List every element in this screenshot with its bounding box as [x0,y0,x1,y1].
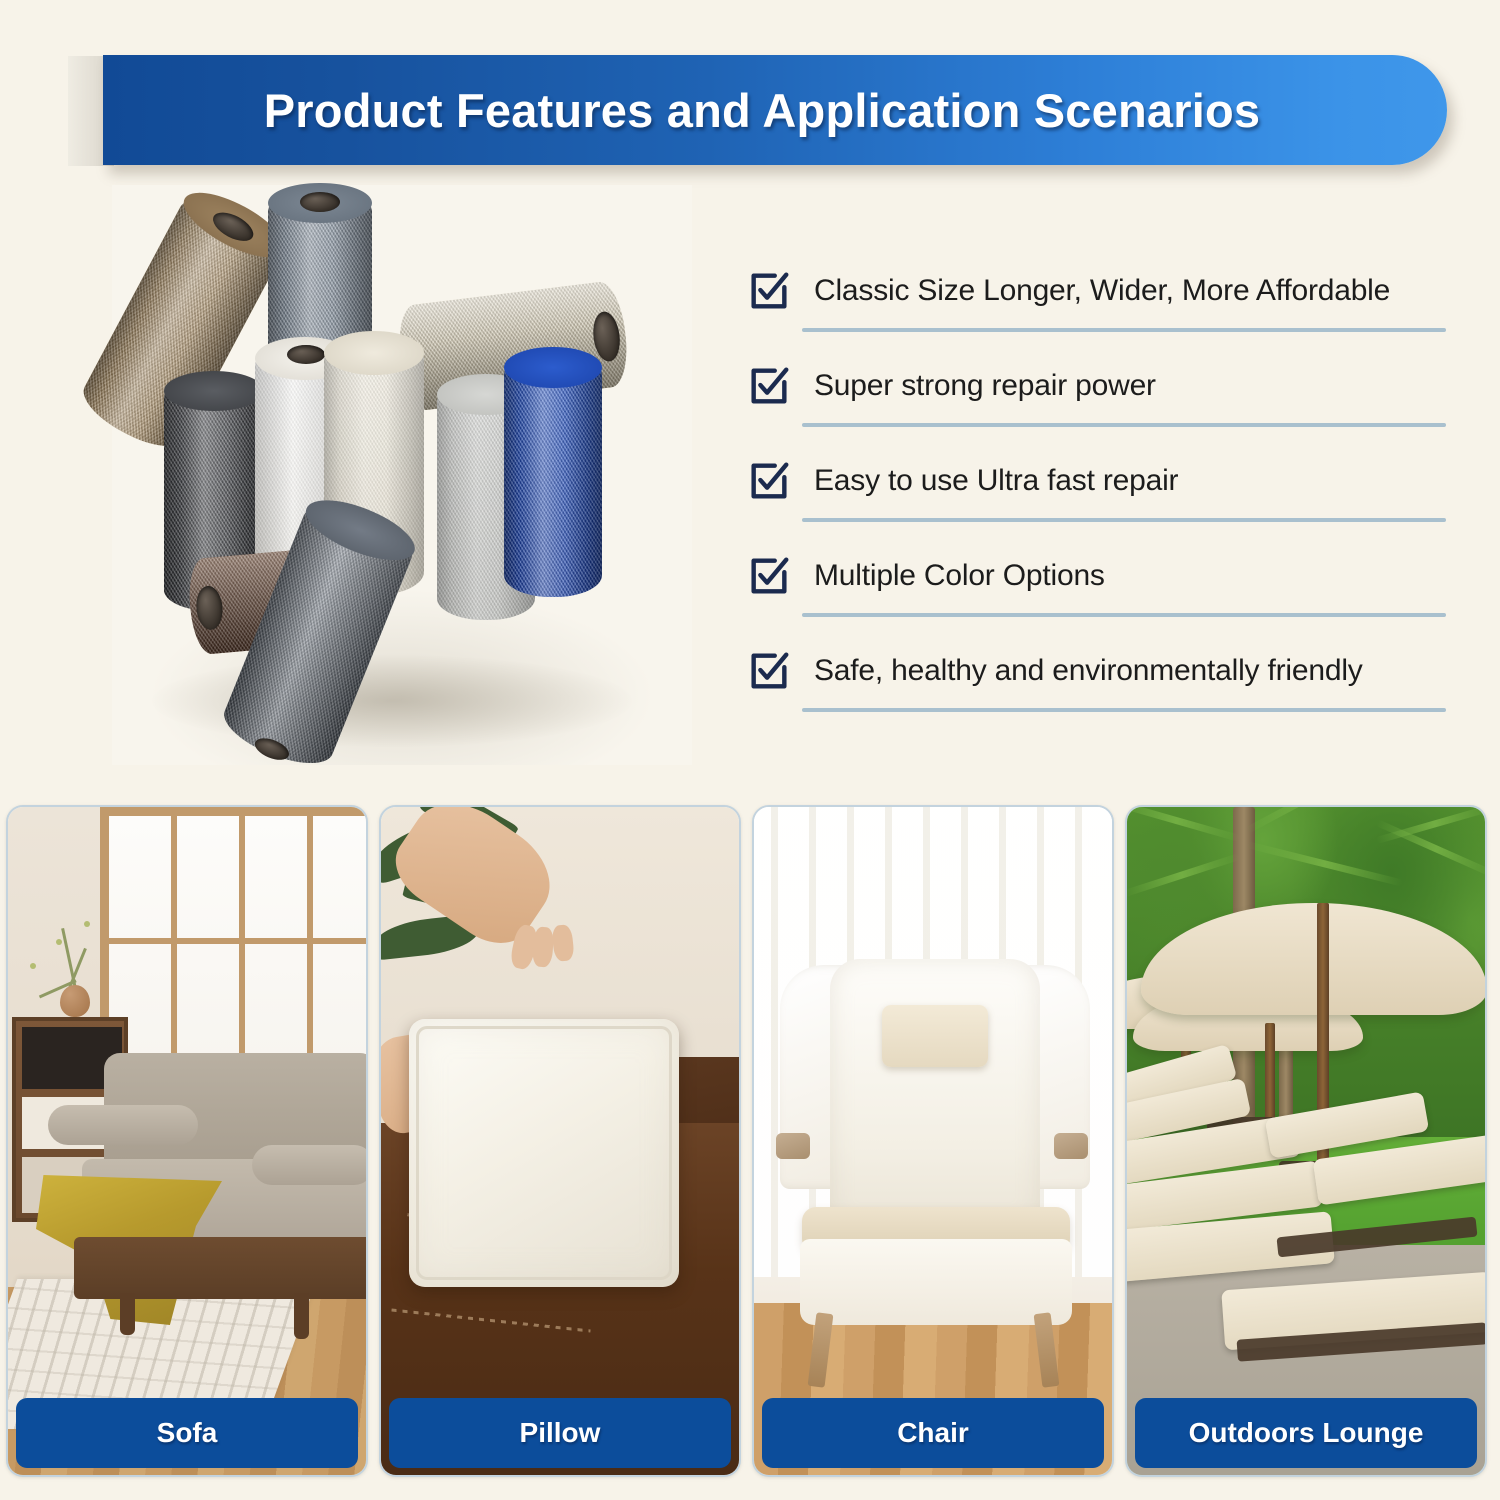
scenario-card-sofa[interactable]: Sofa [6,805,368,1477]
chair-headrest-pillow [882,1005,988,1067]
scenario-card-chair[interactable]: Chair [752,805,1114,1477]
feature-divider [802,328,1446,332]
feature-divider [802,613,1446,617]
feature-item: Safe, healthy and environmentally friend… [746,642,1452,737]
feature-label: Super strong repair power [814,369,1156,403]
scenario-label: Chair [897,1417,969,1449]
chair-arm-cap-right [1054,1133,1088,1159]
feature-label: Classic Size Longer, Wider, More Afforda… [814,274,1390,308]
scenario-label: Outdoors Lounge [1189,1417,1424,1449]
scenario-card-pillow[interactable]: Pillow [379,805,741,1477]
sofa-wood-base [74,1237,366,1299]
tape-roll-royal-blue [504,353,602,597]
feature-divider [802,708,1446,712]
feature-list: Classic Size Longer, Wider, More Afforda… [746,262,1452,737]
chair-backrest [830,959,1040,1227]
checkbox-checked-icon [746,268,792,314]
scenario-photo-outdoors-lounge [1127,807,1485,1475]
header-banner-container: Product Features and Application Scenari… [0,48,1500,178]
feature-label: Easy to use Ultra fast repair [814,464,1178,498]
scenario-photo-chair [754,807,1112,1475]
chair-slipcover-skirt [800,1239,1072,1325]
feature-item: Easy to use Ultra fast repair [746,452,1452,547]
checkbox-checked-icon [746,553,792,599]
scenario-label: Sofa [157,1417,218,1449]
scenario-label-bar: Outdoors Lounge [1135,1398,1477,1468]
feature-label: Safe, healthy and environmentally friend… [814,654,1363,688]
scenario-label-bar: Pillow [389,1398,731,1468]
feature-label: Multiple Color Options [814,559,1105,593]
feature-item: Super strong repair power [746,357,1452,452]
scenario-photo-pillow [381,807,739,1475]
scenario-photo-sofa [8,807,366,1475]
feature-divider [802,518,1446,522]
product-photo-tape-rolls [112,185,692,765]
chair-arm-cap-left [776,1133,810,1159]
scenario-card-row: Sofa Pillow [6,805,1496,1477]
scenario-card-outdoors-lounge[interactable]: Outdoors Lounge [1125,805,1487,1477]
page-title: Product Features and Application Scenari… [264,83,1286,138]
linen-pillow [409,1019,679,1287]
feature-divider [802,423,1446,427]
scenario-label-bar: Chair [762,1398,1104,1468]
feature-item: Classic Size Longer, Wider, More Afforda… [746,262,1452,357]
checkbox-checked-icon [746,648,792,694]
feature-item: Multiple Color Options [746,547,1452,642]
scenario-label-bar: Sofa [16,1398,358,1468]
scenario-label: Pillow [520,1417,601,1449]
checkbox-checked-icon [746,458,792,504]
header-banner: Product Features and Application Scenari… [103,55,1447,165]
checkbox-checked-icon [746,363,792,409]
